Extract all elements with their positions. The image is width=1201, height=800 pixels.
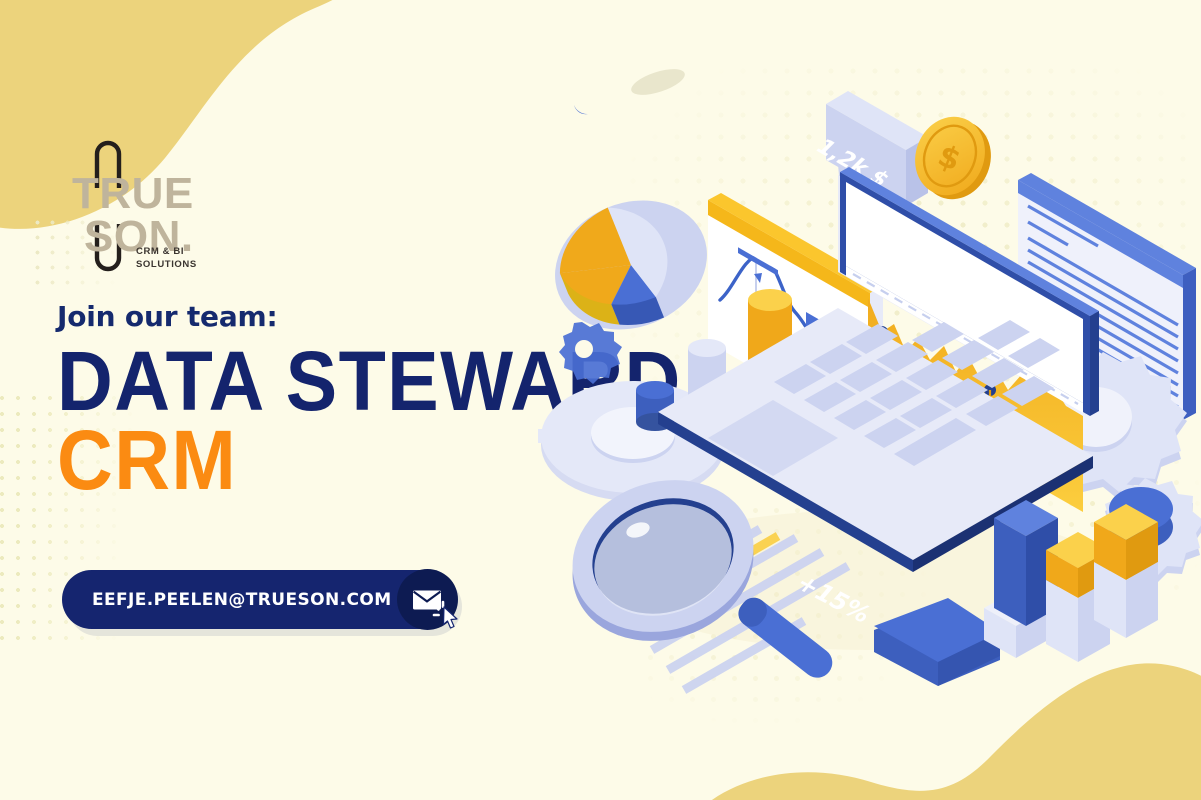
logo-tagline-line1: CRM & BI xyxy=(136,246,184,257)
illustration-analytics-scene: 1,2k $ $ xyxy=(538,60,1201,710)
bar-chart-3d xyxy=(984,500,1158,662)
click-cursor-icon xyxy=(426,592,466,637)
job-title-line-1: DATA STEWARD xyxy=(57,343,572,420)
email-cta[interactable]: EEFJE.PEELEN@TRUESON.COM xyxy=(62,570,456,629)
company-logo: TRUE SON. CRM & BI SOLUTIONS xyxy=(66,136,196,276)
banner-canvas: TRUE SON. CRM & BI SOLUTIONS Join our te… xyxy=(0,0,1201,800)
job-title-line-2: CRM xyxy=(57,420,572,501)
headline-block: Join our team: DATA STEWARD CRM xyxy=(57,303,617,501)
bar-4 xyxy=(1094,504,1158,638)
logo-word-true: TRUE xyxy=(72,169,194,218)
pie-chart-3d xyxy=(538,178,727,351)
email-pill[interactable]: EEFJE.PEELEN@TRUESON.COM xyxy=(62,570,456,629)
logo-tagline-line2: SOLUTIONS xyxy=(136,259,196,270)
floating-ellipse xyxy=(628,64,687,100)
kicker-text: Join our team: xyxy=(57,303,617,331)
email-address: EEFJE.PEELEN@TRUESON.COM xyxy=(92,590,392,610)
floating-accent-shapes xyxy=(574,105,588,114)
gear-small-blue xyxy=(559,322,622,384)
